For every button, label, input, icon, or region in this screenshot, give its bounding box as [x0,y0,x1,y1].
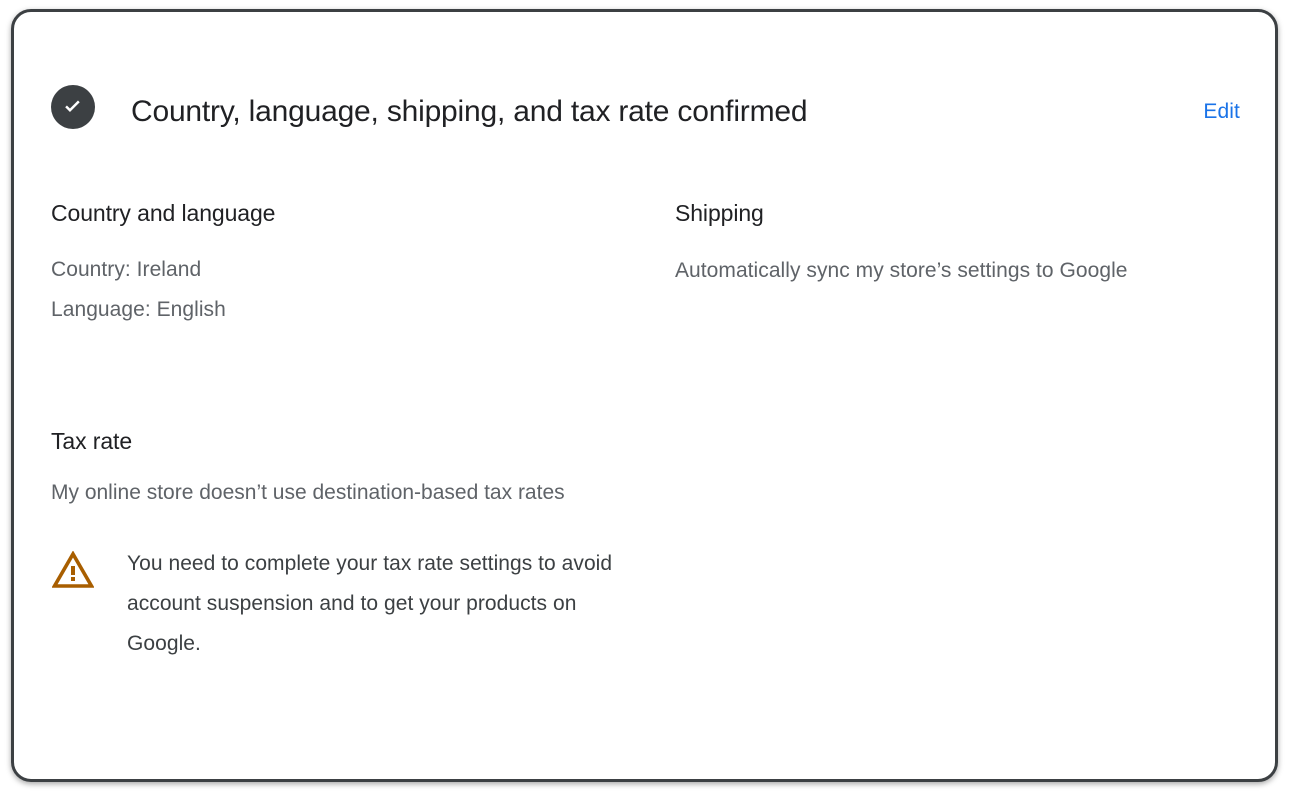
shipping-heading: Shipping [675,198,1235,228]
right-column: Shipping Automatically sync my store’s s… [675,198,1235,291]
left-column: Country and language Country: Ireland La… [51,198,651,664]
edit-link[interactable]: Edit [1203,97,1240,127]
country-language-heading: Country and language [51,198,651,228]
check-circle-icon [51,85,95,129]
warning-triangle-icon [51,548,95,592]
screen: Country, language, shipping, and tax rat… [0,0,1296,800]
shipping-value: Automatically sync my store’s settings t… [675,250,1205,291]
country-value: Country: Ireland [51,250,651,290]
tax-rate-value: My online store doesn’t use destination-… [51,473,571,513]
language-value: Language: English [51,290,651,330]
warning-message: You need to complete your tax rate setti… [127,544,627,664]
card-header: Country, language, shipping, and tax rat… [14,12,1275,162]
country-language-values: Country: Ireland Language: English [51,250,651,330]
country-language-section: Country and language Country: Ireland La… [51,198,651,330]
shipping-section: Shipping Automatically sync my store’s s… [675,198,1235,291]
confirmation-card: Country, language, shipping, and tax rat… [11,9,1278,782]
tax-rate-section: Tax rate My online store doesn’t use des… [51,426,651,664]
tax-rate-heading: Tax rate [51,426,651,456]
page-title: Country, language, shipping, and tax rat… [131,92,807,132]
tax-rate-warning: You need to complete your tax rate setti… [51,544,651,664]
